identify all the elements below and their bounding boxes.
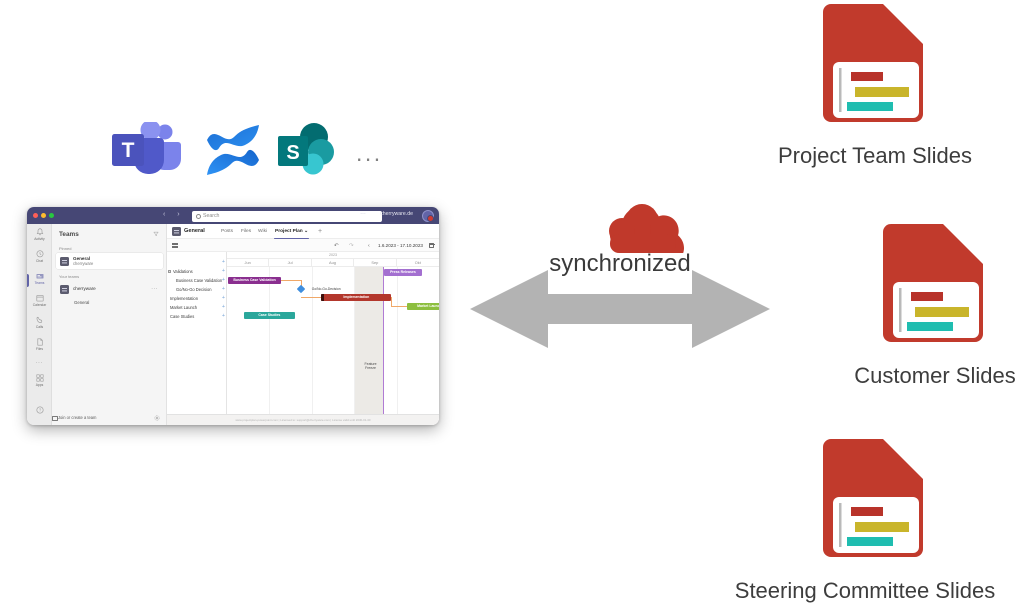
bell-icon xyxy=(36,228,44,236)
add-task-icon[interactable]: + xyxy=(222,278,225,283)
project-team-slides-caption: Project Team Slides xyxy=(716,143,1024,169)
window-minimize-button[interactable] xyxy=(41,213,46,218)
rail-item-chat[interactable]: Chat xyxy=(27,248,52,269)
team-name: cherryware xyxy=(73,286,96,291)
undo-button[interactable]: ↶ xyxy=(334,243,339,249)
add-task-icon[interactable]: + xyxy=(222,296,225,301)
nav-arrows[interactable]: ‹ › xyxy=(163,211,185,218)
file-icon xyxy=(36,338,44,346)
feature-freeze-label: Feature Freeze xyxy=(361,362,381,371)
month-label: Aug xyxy=(312,259,354,267)
gantt-bar-label: Press Releases xyxy=(384,269,422,276)
tab-project-plan[interactable]: Project Plan ⌄ xyxy=(275,229,308,234)
highlight-band xyxy=(355,267,383,414)
gantt-license-footer: www.projectplan-powerpoint.com | License… xyxy=(167,414,439,425)
rail-item-calendar[interactable]: Calendar xyxy=(27,292,52,313)
rail-label: Chat xyxy=(27,259,52,263)
filter-icon[interactable] xyxy=(153,231,159,237)
rail-label: Calendar xyxy=(27,303,52,307)
apps-icon xyxy=(36,374,44,382)
channel-avatar-icon xyxy=(172,227,181,236)
customer-slides-caption: Customer Slides xyxy=(776,363,1024,389)
rail-label: Files xyxy=(27,347,52,351)
gantt-chart: − Validations + Business Case Validation… xyxy=(167,252,439,414)
gantt-milestone-go-no-go[interactable] xyxy=(297,285,305,293)
task-label: Market Launch xyxy=(170,305,197,310)
gantt-bar-label: Implementation xyxy=(321,294,391,301)
table-row[interactable]: Market Launch + xyxy=(167,303,227,312)
microsoft-teams-logo: T xyxy=(112,122,184,176)
your-teams-section-label: Your teams xyxy=(59,274,79,279)
channel-item-general[interactable]: General xyxy=(74,300,89,305)
chat-icon xyxy=(36,250,44,258)
channel-tabbar: General Posts Files Wiki Project Plan ⌄ … xyxy=(167,224,439,239)
rail-item-activity[interactable]: Activity xyxy=(27,226,52,247)
pinned-team-item[interactable]: General cherryware xyxy=(56,253,163,269)
window-titlebar: ‹ › Search … cherryware.de xyxy=(27,207,439,224)
pinned-channel-name: General xyxy=(73,256,90,261)
window-close-button[interactable] xyxy=(33,213,38,218)
gear-icon[interactable] xyxy=(154,415,160,421)
gantt-milestone-label: Go/No-Go-Decision xyxy=(312,287,341,291)
task-label: Case Studies xyxy=(170,314,194,319)
team-more-options-icon[interactable]: ··· xyxy=(151,286,158,292)
task-label: Go/No-Go Decision xyxy=(176,287,212,292)
pinned-section-label: Pinned xyxy=(59,246,71,251)
table-row[interactable]: Business Case Validation + xyxy=(167,276,227,285)
month-label: Okt xyxy=(397,259,439,267)
customer-slides-icon[interactable] xyxy=(865,222,1005,352)
teams-list-panel: Teams Pinned General cherryware Your tea… xyxy=(52,224,167,425)
prev-period-button[interactable]: ‹ xyxy=(368,243,370,249)
teams-app-window: ‹ › Search … cherryware.de Activity Chat… xyxy=(27,207,439,425)
channel-title: General xyxy=(184,228,205,234)
team-item-cherryware[interactable]: cherryware ··· xyxy=(56,281,163,297)
steering-committee-slides-icon[interactable] xyxy=(805,437,945,567)
jira-logo xyxy=(204,122,262,176)
task-label: Business Case Validation xyxy=(176,278,222,283)
task-label: Validations xyxy=(173,269,193,274)
gantt-timeline: 2023 Jun Jul Aug Sep Okt Feature Freeze xyxy=(227,252,439,414)
more-apps-ellipsis: ... xyxy=(356,142,383,165)
feature-freeze-marker xyxy=(383,267,384,414)
date-range-label: 1.6.2023 - 17.10.2023 xyxy=(378,243,423,248)
timeline-months: Jun Jul Aug Sep Okt xyxy=(227,259,439,267)
pinned-team-name: cherryware xyxy=(73,261,93,266)
gantt-bar-business-case-validation[interactable]: Business Case Validation xyxy=(228,277,281,284)
calendar-icon xyxy=(36,294,44,302)
month-label: Sep xyxy=(354,259,396,267)
gantt-bar-label: Market Launch xyxy=(407,303,439,310)
bidirectional-arrow xyxy=(470,268,770,350)
team-avatar-icon xyxy=(60,285,69,294)
add-task-icon[interactable]: + xyxy=(222,260,225,265)
table-row-header: + xyxy=(167,258,227,267)
steering-committee-slides-caption: Steering Committee Slides xyxy=(706,578,1024,604)
help-button[interactable]: ? xyxy=(27,401,52,419)
svg-text:T: T xyxy=(122,139,135,162)
gantt-bar-label: Case Studies xyxy=(244,312,295,319)
team-avatar-icon xyxy=(60,257,69,266)
presentation-document-icon xyxy=(805,2,945,132)
table-row[interactable]: Implementation + xyxy=(167,294,227,303)
redo-button[interactable]: ↷ xyxy=(349,243,354,249)
rail-overflow-icon[interactable]: ··· xyxy=(27,360,52,366)
gantt-bar-market-launch[interactable]: Market Launch xyxy=(407,303,439,310)
phone-icon xyxy=(36,316,44,324)
month-label: Jun xyxy=(227,259,269,267)
svg-text:?: ? xyxy=(38,408,41,413)
sync-indicator-group: synchronized xyxy=(470,190,770,350)
tab-wiki[interactable]: Wiki xyxy=(258,229,267,234)
rail-item-calls[interactable]: Calls xyxy=(27,314,52,335)
presentation-document-icon xyxy=(805,437,945,567)
task-label: Implementation xyxy=(170,296,198,301)
gantt-bar-implementation[interactable]: Implementation xyxy=(321,294,391,301)
svg-text:S: S xyxy=(286,142,299,164)
gantt-task-list: − Validations + Business Case Validation… xyxy=(167,252,227,414)
add-task-icon[interactable]: + xyxy=(222,314,225,319)
teams-icon xyxy=(36,272,44,280)
cloud-icon xyxy=(600,196,686,256)
rail-label: Teams xyxy=(27,281,52,285)
sharepoint-logo: S xyxy=(276,122,338,176)
channel-main-area: General Posts Files Wiki Project Plan ⌄ … xyxy=(167,224,439,425)
table-row[interactable]: Go/No-Go Decision + xyxy=(167,285,227,294)
presentation-document-icon xyxy=(865,222,1005,352)
rail-item-apps[interactable]: Apps xyxy=(27,372,52,393)
project-team-slides-icon[interactable] xyxy=(805,2,945,132)
search-input[interactable]: Search xyxy=(192,211,382,222)
help-icon: ? xyxy=(36,406,44,414)
account-label[interactable]: cherryware.de xyxy=(380,211,413,217)
calendar-icon[interactable] xyxy=(429,243,434,248)
rail-label: Activity xyxy=(27,237,52,241)
gantt-toolbar: ↶ ↷ ‹ 1.6.2023 - 17.10.2023 › xyxy=(167,239,439,252)
tab-posts[interactable]: Posts xyxy=(221,229,233,234)
rail-item-teams[interactable]: Teams xyxy=(27,270,52,291)
app-rail: Activity Chat Teams Calendar Calls Files… xyxy=(27,224,52,425)
tab-files[interactable]: Files xyxy=(241,229,251,234)
rail-label: Calls xyxy=(27,325,52,329)
add-tab-button[interactable]: + xyxy=(318,228,322,235)
teams-panel-title: Teams xyxy=(59,231,79,238)
window-maximize-button[interactable] xyxy=(49,213,54,218)
join-or-create-team-button[interactable]: Join or create a team xyxy=(58,415,96,420)
collapse-icon[interactable]: − xyxy=(168,270,171,273)
rail-label: Apps xyxy=(27,383,52,387)
add-task-icon[interactable]: + xyxy=(222,269,225,274)
titlebar-overflow-icon[interactable]: … xyxy=(360,210,367,216)
rail-item-files[interactable]: Files xyxy=(27,336,52,357)
month-label: Jul xyxy=(269,259,311,267)
add-task-icon[interactable]: + xyxy=(222,305,225,310)
avatar[interactable] xyxy=(422,210,434,222)
table-row[interactable]: − Validations + xyxy=(167,267,227,276)
add-task-icon[interactable]: + xyxy=(222,287,225,292)
integration-logos: T S ... xyxy=(112,122,382,178)
timeline-year-label: 2023 xyxy=(227,252,439,259)
table-row[interactable]: Case Studies + xyxy=(167,312,227,321)
gantt-bar-case-studies[interactable]: Case Studies xyxy=(244,312,295,319)
grid-icon[interactable] xyxy=(172,243,178,248)
gantt-bar-press-releases[interactable]: Press Releases xyxy=(384,269,422,276)
gantt-bar-label: Business Case Validation xyxy=(228,277,281,284)
